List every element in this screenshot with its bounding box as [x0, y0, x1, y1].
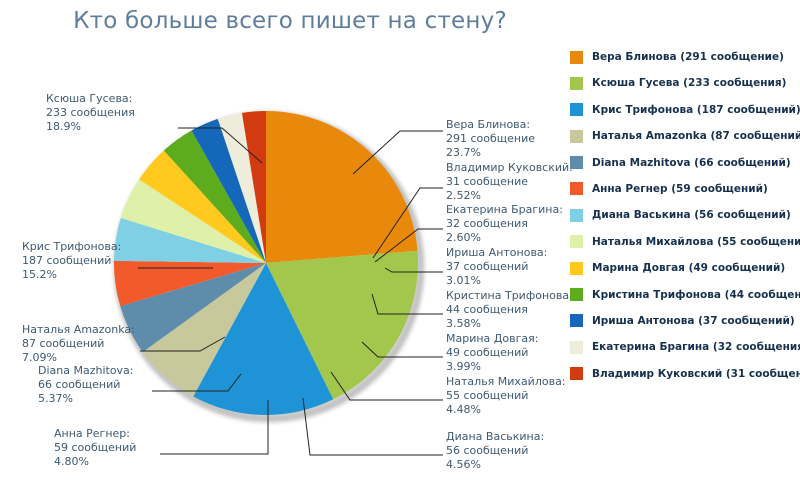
legend-swatch-icon — [570, 51, 583, 64]
callout-name: Владимир Куковский: — [446, 161, 573, 175]
legend-label: Марина Довгая (49 сообщений) — [592, 262, 785, 274]
legend-label: Вера Блинова (291 сообщение) — [592, 51, 784, 63]
legend-swatch-icon — [570, 156, 583, 169]
callout-name: Марина Довгая: — [446, 332, 538, 346]
legend-label: Крис Трифонова (187 сообщений) — [592, 104, 800, 116]
legend-label: Ириша Антонова (37 сообщений) — [592, 315, 795, 327]
legend-swatch-icon — [570, 235, 583, 248]
legend-item[interactable]: Ириша Антонова (37 сообщений) — [570, 312, 800, 330]
callout-percent: 5.37% — [38, 392, 134, 406]
legend-item[interactable]: Марина Довгая (49 сообщений) — [570, 259, 800, 277]
callout-label: Diana Mazhitova: 66 сообщений 5.37% — [38, 364, 134, 407]
callout-name: Крис Трифонова: — [22, 240, 121, 254]
callout-name: Наталья Amazonka: — [22, 323, 135, 337]
legend-item[interactable]: Кристина Трифонова (44 сообщения) — [570, 286, 800, 304]
legend-swatch-icon — [570, 262, 583, 275]
legend-label: Екатерина Брагина (32 сообщения) — [592, 341, 800, 353]
callout-count: 87 сообщений — [22, 337, 135, 351]
callout-name: Наталья Михайлова: — [446, 375, 566, 389]
callout-label: Наталья Михайлова: 55 сообщений 4.48% — [446, 375, 566, 418]
callout-label: Екатерина Брагина: 32 сообщения 2.60% — [446, 203, 563, 246]
callout-label: Ириша Антонова: 37 сообщений 3.01% — [446, 246, 547, 289]
callout-count: 187 сообщений — [22, 254, 121, 268]
callout-percent: 4.48% — [446, 403, 566, 417]
callout-label: Крис Трифонова: 187 сообщений 15.2% — [22, 240, 121, 283]
legend-label: Diana Mazhitova (66 сообщений) — [592, 157, 791, 169]
callout-count: 44 сообщения — [446, 303, 573, 317]
legend-swatch-icon — [570, 288, 583, 301]
callout-percent: 4.56% — [446, 458, 544, 472]
callout-name: Анна Регнер: — [54, 427, 136, 441]
callout-label: Владимир Куковский: 31 сообщение 2.52% — [446, 161, 573, 204]
page-title: Кто больше всего пишет на стену? — [0, 8, 580, 34]
legend-label: Ксюша Гусева (233 сообщения) — [592, 77, 786, 89]
callout-name: Вера Блинова: — [446, 118, 535, 132]
callout-count: 59 сообщений — [54, 441, 136, 455]
legend-item[interactable]: Анна Регнер (59 сообщений) — [570, 180, 800, 198]
callout-count: 32 сообщения — [446, 217, 563, 231]
callout-label: Вера Блинова: 291 сообщение 23.7% — [446, 118, 535, 161]
callout-count: 55 сообщений — [446, 389, 566, 403]
callout-count: 233 сообщения — [46, 106, 135, 120]
legend-label: Анна Регнер (59 сообщений) — [592, 183, 768, 195]
legend-swatch-icon — [570, 367, 583, 380]
callout-count: 291 сообщение — [446, 132, 535, 146]
callout-count: 31 сообщение — [446, 175, 573, 189]
callout-label: Наталья Amazonka: 87 сообщений 7.09% — [22, 323, 135, 366]
callout-percent: 4.80% — [54, 455, 136, 469]
chart-page: Кто больше всего пишет на стену? Ксюша Г… — [0, 0, 800, 500]
callout-percent: 3.58% — [446, 317, 573, 331]
legend-swatch-icon — [570, 314, 583, 327]
callout-name: Кристина Трифонова: — [446, 289, 573, 303]
legend-label: Наталья Amazonka (87 сообщений) — [592, 130, 800, 142]
legend-label: Владимир Куковский (31 сообщение) — [592, 368, 800, 380]
legend-swatch-icon — [570, 103, 583, 116]
callout-name: Ксюша Гусева: — [46, 92, 135, 106]
callout-count: 37 сообщений — [446, 260, 547, 274]
callout-label: Анна Регнер: 59 сообщений 4.80% — [54, 427, 136, 470]
callout-percent: 15.2% — [22, 268, 121, 282]
callout-name: Ириша Антонова: — [446, 246, 547, 260]
legend-label: Диана Васькина (56 сообщений) — [592, 209, 791, 221]
callout-label: Диана Васькина: 56 сообщений 4.56% — [446, 430, 544, 473]
callout-name: Диана Васькина: — [446, 430, 544, 444]
callout-percent: 18.9% — [46, 120, 135, 134]
legend-item[interactable]: Наталья Amazonka (87 сообщений) — [570, 127, 800, 145]
callout-name: Екатерина Брагина: — [446, 203, 563, 217]
legend-label: Кристина Трифонова (44 сообщения) — [592, 289, 800, 301]
legend-item[interactable]: Владимир Куковский (31 сообщение) — [570, 365, 800, 383]
legend-item[interactable]: Вера Блинова (291 сообщение) — [570, 48, 800, 66]
legend-swatch-icon — [570, 341, 583, 354]
callout-percent: 2.52% — [446, 189, 573, 203]
pie-slices — [110, 107, 422, 419]
legend-swatch-icon — [570, 77, 583, 90]
legend-swatch-icon — [570, 182, 583, 195]
legend-item[interactable]: Крис Трифонова (187 сообщений) — [570, 101, 800, 119]
callout-count: 49 сообщений — [446, 346, 538, 360]
legend-label: Наталья Михайлова (55 сообщений) — [592, 236, 800, 248]
callout-count: 56 сообщений — [446, 444, 544, 458]
legend-item[interactable]: Ксюша Гусева (233 сообщения) — [570, 74, 800, 92]
pie-chart — [110, 107, 422, 419]
legend-item[interactable]: Екатерина Брагина (32 сообщения) — [570, 338, 800, 356]
callout-percent: 3.01% — [446, 274, 547, 288]
callout-percent: 23.7% — [446, 146, 535, 160]
callout-label: Ксюша Гусева: 233 сообщения 18.9% — [46, 92, 135, 135]
legend: Вера Блинова (291 сообщение) Ксюша Гусев… — [570, 48, 800, 391]
legend-item[interactable]: Diana Mazhitova (66 сообщений) — [570, 154, 800, 172]
callout-percent: 3.99% — [446, 360, 538, 374]
legend-item[interactable]: Наталья Михайлова (55 сообщений) — [570, 233, 800, 251]
callout-percent: 2.60% — [446, 231, 563, 245]
callout-count: 66 сообщений — [38, 378, 134, 392]
callout-label: Марина Довгая: 49 сообщений 3.99% — [446, 332, 538, 375]
legend-item[interactable]: Диана Васькина (56 сообщений) — [570, 206, 800, 224]
callout-label: Кристина Трифонова: 44 сообщения 3.58% — [446, 289, 573, 332]
legend-swatch-icon — [570, 130, 583, 143]
pie-slice[interactable] — [266, 111, 418, 263]
callout-name: Diana Mazhitova: — [38, 364, 134, 378]
legend-swatch-icon — [570, 209, 583, 222]
